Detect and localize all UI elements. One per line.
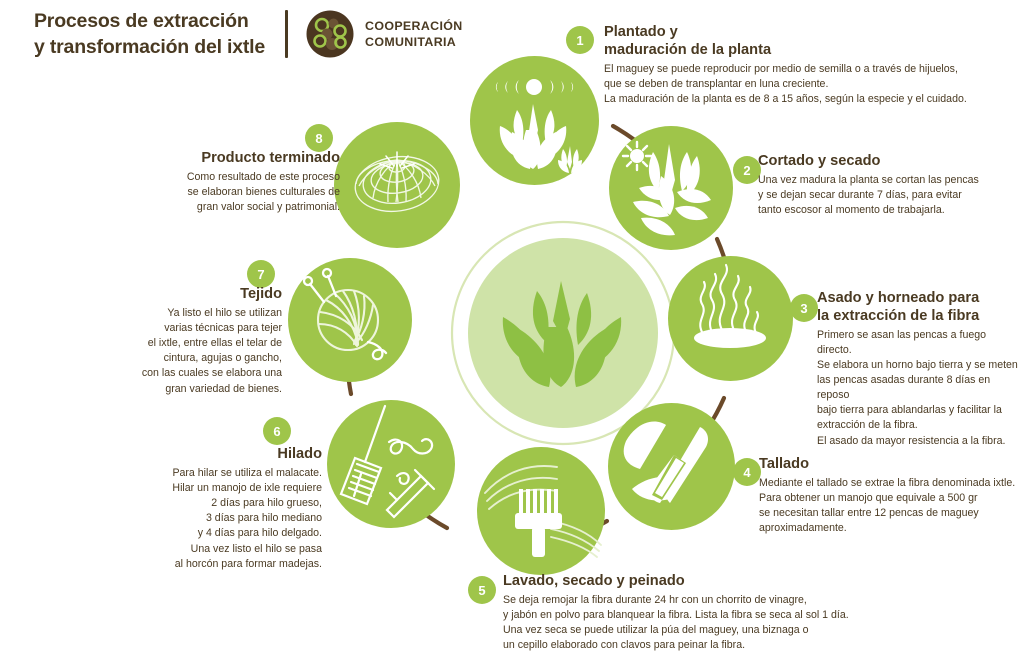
step-node-4[interactable]: [608, 403, 735, 530]
center-disc: [468, 238, 658, 428]
title-divider: [285, 10, 288, 58]
step-text-8: Producto terminado Como resultado de est…: [24, 150, 340, 215]
step-node-2[interactable]: [609, 126, 733, 250]
step-badge-6: 6: [263, 417, 291, 445]
step-text-4: Tallado Mediante el tallado se extrae la…: [759, 456, 1021, 536]
step-title-3: Asado y horneado para la extracción de l…: [817, 290, 1022, 326]
step-node-3[interactable]: [668, 256, 793, 381]
step-title-5: Lavado, secado y peinado: [503, 573, 973, 591]
logo-text: COOPERACIÓN COMUNITARIA: [365, 18, 462, 51]
step-node-1[interactable]: [470, 56, 599, 185]
step-title-8: Producto terminado: [24, 150, 340, 168]
cooperacion-comunitaria-logo-icon: [306, 10, 354, 58]
step-node-5[interactable]: [477, 447, 605, 575]
step-body-1: El maguey se puede reproducir por medio …: [604, 62, 1004, 107]
logo-text-line2: COMUNITARIA: [365, 34, 462, 51]
comb-fiber-icon: [477, 447, 605, 575]
step-badge-5: 5: [468, 576, 496, 604]
header: Procesos de extracción y transformación …: [34, 8, 463, 61]
sun-cut-agave-icon: [609, 126, 733, 250]
step-body-8: Como resultado de este proceso se elabor…: [24, 170, 340, 215]
step-title-6: Hilado: [24, 446, 322, 464]
step-badge-7: 7: [247, 260, 275, 288]
step-text-3: Asado y horneado para la extracción de l…: [817, 290, 1022, 449]
step-badge-3: 3: [790, 294, 818, 322]
step-title-2: Cortado y secado: [758, 153, 1018, 171]
smoking-oven-icon: [668, 256, 793, 381]
step-text-5: Lavado, secado y peinado Se deja remojar…: [503, 573, 973, 653]
woven-basket-icon: [334, 122, 460, 248]
step-node-8[interactable]: [334, 122, 460, 248]
step-body-2: Una vez madura la planta se cortan las p…: [758, 173, 1018, 218]
step-text-6: Hilado Para hilar se utiliza el malacate…: [24, 446, 322, 572]
step-node-6[interactable]: [327, 400, 455, 528]
step-title-7: Tejido: [24, 286, 282, 304]
logo-text-line1: COOPERACIÓN: [365, 18, 462, 35]
page-title: Procesos de extracción y transformación …: [34, 8, 265, 61]
step-title-4: Tallado: [759, 456, 1021, 474]
agave-plant-icon: [503, 281, 621, 387]
knife-penca-icon: [608, 403, 735, 530]
step-badge-2: 2: [733, 156, 761, 184]
step-body-5: Se deja remojar la fibra durante 24 hr c…: [503, 593, 973, 654]
step-node-7[interactable]: [288, 258, 412, 382]
step-title-1: Plantado y maduración de la planta: [604, 24, 1004, 60]
infographic-canvas: Procesos de extracción y transformación …: [0, 0, 1024, 664]
step-text-2: Cortado y secado Una vez madura la plant…: [758, 153, 1018, 218]
step-badge-1: 1: [566, 26, 594, 54]
step-badge-8: 8: [305, 124, 333, 152]
moon-phases-agave-icon: [470, 56, 599, 185]
step-body-4: Mediante el tallado se extrae la fibra d…: [759, 476, 1021, 537]
step-text-1: Plantado y maduración de la planta El ma…: [604, 24, 1004, 107]
page-title-line2: y transformación del ixtle: [34, 34, 265, 60]
spindle-malacate-icon: [327, 400, 455, 528]
step-badge-4: 4: [733, 458, 761, 486]
step-text-7: Tejido Ya listo el hilo se utilizan vari…: [24, 286, 282, 397]
organization-logo: COOPERACIÓN COMUNITARIA: [306, 10, 462, 58]
yarn-ball-needles-icon: [288, 258, 412, 382]
page-title-line1: Procesos de extracción: [34, 8, 265, 34]
step-body-3: Primero se asan las pencas a fuego direc…: [817, 328, 1022, 449]
step-body-6: Para hilar se utiliza el malacate. Hilar…: [24, 466, 322, 572]
step-body-7: Ya listo el hilo se utilizan varias técn…: [24, 306, 282, 397]
